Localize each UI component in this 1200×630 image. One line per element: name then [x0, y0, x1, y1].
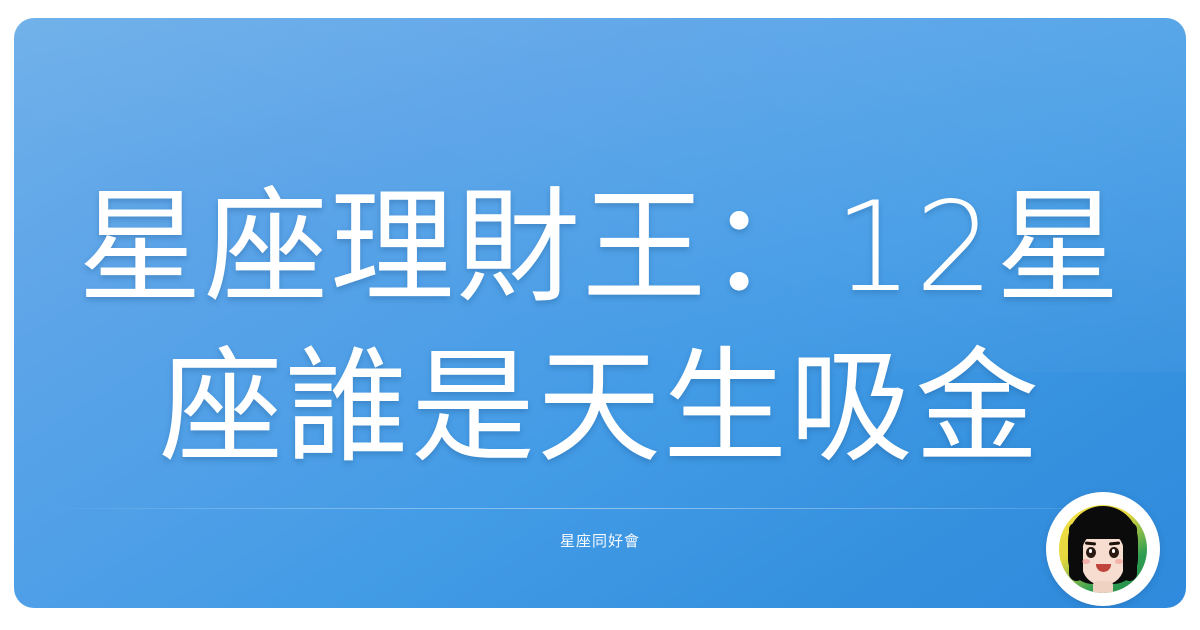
article-cover-card: 星座理財王：12星 座誰是天生吸金 星座同好會	[14, 18, 1186, 608]
screenshot-stage: 星座理財王：12星 座誰是天生吸金 星座同好會	[0, 0, 1200, 630]
avatar-cheek-right	[1115, 559, 1123, 564]
avatar-fringe	[1076, 509, 1130, 539]
avatar-cheek-left	[1082, 559, 1090, 564]
title-line-2: 座誰是天生吸金	[38, 328, 1162, 488]
avatar-image	[1059, 505, 1147, 593]
avatar-face	[1082, 531, 1124, 585]
avatar	[1046, 492, 1160, 606]
cover-title: 星座理財王：12星 座誰是天生吸金	[14, 168, 1186, 488]
footer-divider	[44, 508, 1156, 509]
avatar-eye-right	[1109, 547, 1119, 558]
title-line-1: 星座理財王：12星	[38, 168, 1162, 328]
avatar-eye-left	[1086, 547, 1096, 558]
source-label: 星座同好會	[14, 530, 1186, 551]
avatar-neck	[1093, 581, 1113, 593]
